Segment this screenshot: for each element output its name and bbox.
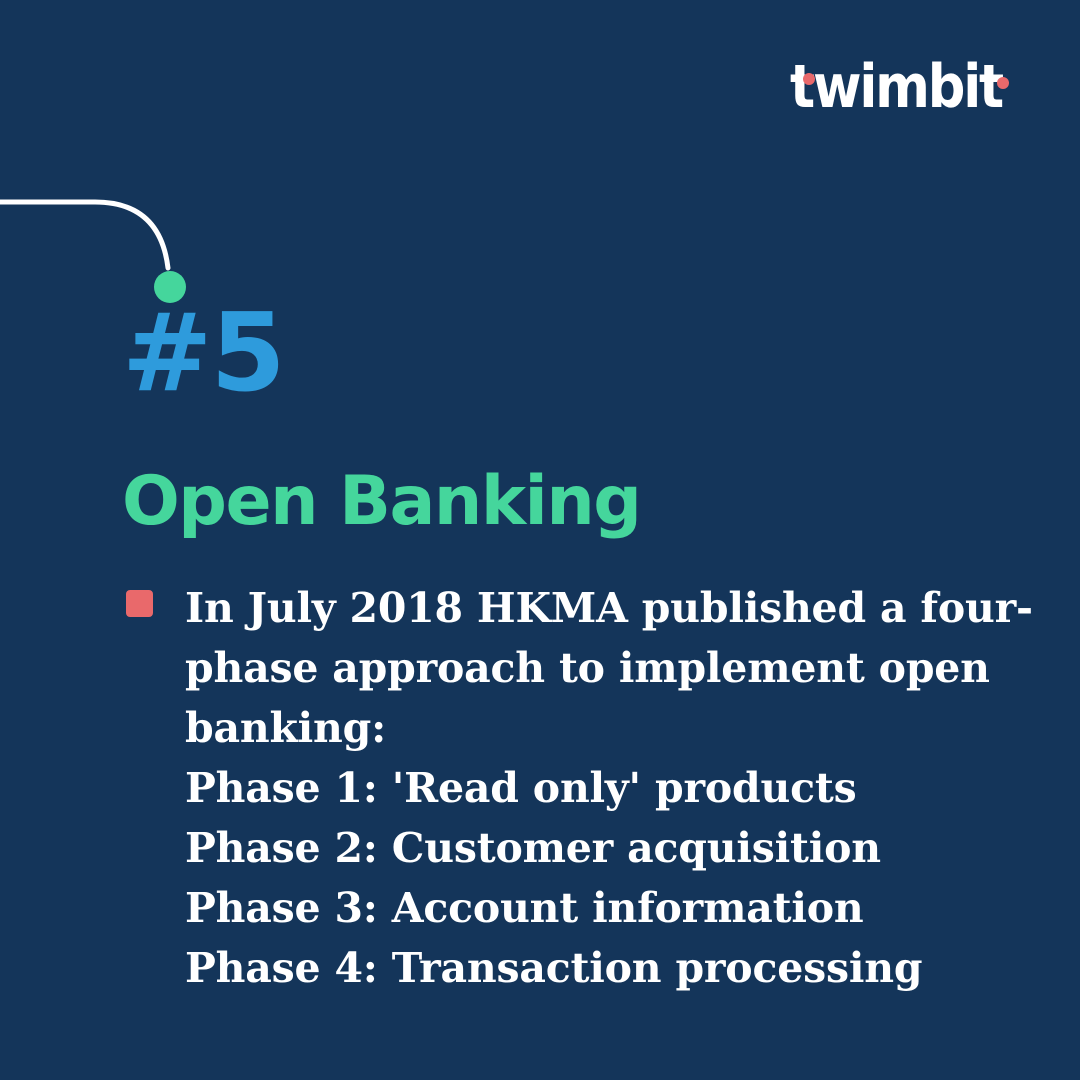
svg-text:twimbit: twimbit	[790, 52, 1004, 122]
bullet-item: In July 2018 HKMA published a four-phase…	[124, 578, 1024, 998]
bullet-square-icon	[126, 590, 153, 617]
body-line-6: Phase 3: Account information	[185, 878, 1024, 938]
body-line-1: In July 2018 HKMA published a four-	[185, 578, 1024, 638]
curve-line-icon	[0, 202, 168, 268]
slide-number: #5	[122, 300, 284, 408]
slide-card: twimbit #5 Open Banking In July 2018 HKM…	[0, 0, 1080, 1080]
page-title: Open Banking	[122, 466, 640, 537]
logo-accent-dot-right	[997, 77, 1009, 89]
body-line-7: Phase 4: Transaction processing	[185, 938, 1024, 998]
body-line-5: Phase 2: Customer acquisition	[185, 818, 1024, 878]
body-line-3: banking:	[185, 698, 1024, 758]
twimbit-logo[interactable]: twimbit	[790, 52, 1020, 122]
logo-accent-dot-left	[803, 73, 815, 85]
twimbit-wordmark-icon: twimbit	[790, 52, 1020, 122]
body-line-2: phase approach to implement open	[185, 638, 1024, 698]
body-text: In July 2018 HKMA published a four-phase…	[124, 578, 1024, 998]
body-line-4: Phase 1: 'Read only' products	[185, 758, 1024, 818]
body-block: In July 2018 HKMA published a four-phase…	[124, 578, 1024, 998]
